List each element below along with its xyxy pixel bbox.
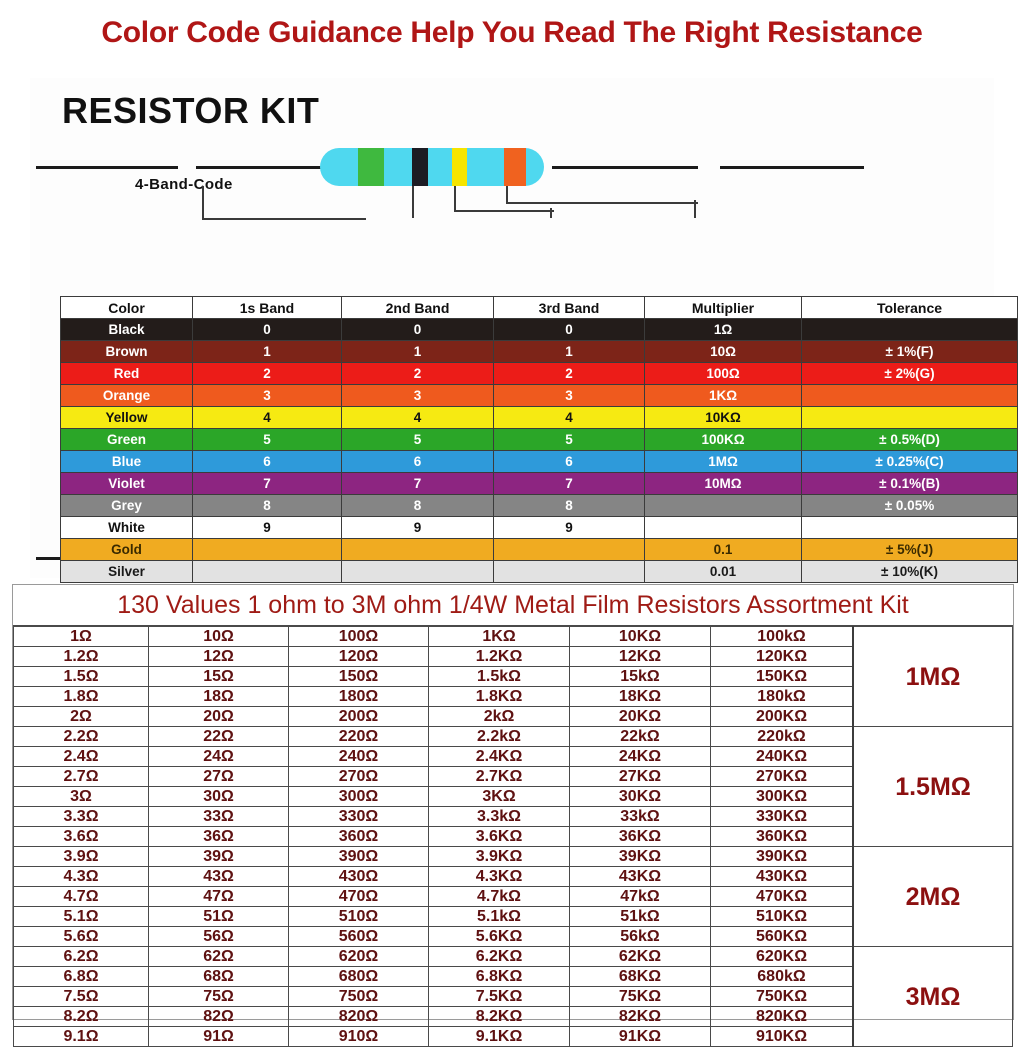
cc-band1-value: 6 xyxy=(193,451,342,473)
resistor-value-cell: 2.7Ω xyxy=(14,767,149,787)
cc-band2-value: 0 xyxy=(342,319,494,341)
resistor-value-cell: 18Ω xyxy=(149,687,289,707)
cc-multiplier-value: 10KΩ xyxy=(645,407,802,429)
cc-band3-value: 2 xyxy=(494,363,645,385)
resistor-value-cell: 360Ω xyxy=(289,827,429,847)
table-row: 6.2Ω62Ω620Ω6.2KΩ62KΩ620KΩ3MΩ xyxy=(14,947,1013,967)
cc-band2-value: 6 xyxy=(342,451,494,473)
resistor-value-cell: 9.1KΩ xyxy=(429,1027,570,1047)
resistor-value-cell: 24Ω xyxy=(149,747,289,767)
cc-tolerance-value: ± 2%(G) xyxy=(802,363,1018,385)
resistor-value-cell: 2.4Ω xyxy=(14,747,149,767)
cc-multiplier-value: 10MΩ xyxy=(645,473,802,495)
resistor-value-cell: 91KΩ xyxy=(570,1027,711,1047)
resistor-value-cell: 270KΩ xyxy=(711,767,854,787)
lead-line-left-inner xyxy=(196,166,336,169)
cc-band3-value: 3 xyxy=(494,385,645,407)
cc-multiplier-value: 100KΩ xyxy=(645,429,802,451)
resistor-value-cell: 4.7kΩ xyxy=(429,887,570,907)
resistor-value-cell: 6.8Ω xyxy=(14,967,149,987)
resistor-value-cell: 7.5Ω xyxy=(14,987,149,1007)
cc-band1-value: 0 xyxy=(193,319,342,341)
resistor-value-cell: 150Ω xyxy=(289,667,429,687)
color-code-row: Orange3331KΩ xyxy=(61,385,1018,407)
resistor-value-cell: 300Ω xyxy=(289,787,429,807)
cc-band2-value: 8 xyxy=(342,495,494,517)
resistor-value-cell: 2kΩ xyxy=(429,707,570,727)
values-card: 130 Values 1 ohm to 3M ohm 1/4W Metal Fi… xyxy=(12,584,1014,1020)
resistor-value-cell: 39KΩ xyxy=(570,847,711,867)
resistor-value-cell: 75KΩ xyxy=(570,987,711,1007)
resistor-value-cell: 680kΩ xyxy=(711,967,854,987)
cc-color-name: Black xyxy=(61,319,193,341)
resistor-value-cell: 12Ω xyxy=(149,647,289,667)
cc-band3-value: 6 xyxy=(494,451,645,473)
resistor-value-cell: 270Ω xyxy=(289,767,429,787)
resistor-value-cell: 5.1kΩ xyxy=(429,907,570,927)
cc-tolerance-value: ± 0.05% xyxy=(802,495,1018,517)
resistor-value-cell: 91Ω xyxy=(149,1027,289,1047)
resistor-value-cell: 47kΩ xyxy=(570,887,711,907)
color-code-card: RESISTOR KIT 4-Band-Code 5-Band-Code xyxy=(30,78,994,578)
resistor-value-cell: 200Ω xyxy=(289,707,429,727)
resistor-value-cell: 560Ω xyxy=(289,927,429,947)
resistor-value-cell: 390KΩ xyxy=(711,847,854,867)
mega-ohm-group-cell: 2MΩ xyxy=(853,847,1013,947)
resistor-value-cell: 51Ω xyxy=(149,907,289,927)
col-header-multiplier: Multiplier xyxy=(645,297,802,319)
resistor-value-cell: 220Ω xyxy=(289,727,429,747)
resistor-value-cell: 2Ω xyxy=(14,707,149,727)
resistor-value-cell: 2.4KΩ xyxy=(429,747,570,767)
resistor-value-cell: 1.8Ω xyxy=(14,687,149,707)
table-row: 2.2Ω22Ω220Ω2.2kΩ22kΩ220kΩ1.5MΩ xyxy=(14,727,1013,747)
cc-tolerance-value: ± 0.25%(C) xyxy=(802,451,1018,473)
connector-band1 xyxy=(202,186,366,220)
resistor-value-cell: 24KΩ xyxy=(570,747,711,767)
resistor-value-cell: 20Ω xyxy=(149,707,289,727)
cc-band1-value: 8 xyxy=(193,495,342,517)
resistor-value-cell: 4.7Ω xyxy=(14,887,149,907)
resistor-value-cell: 27Ω xyxy=(149,767,289,787)
cc-color-name: Brown xyxy=(61,341,193,363)
cc-multiplier-value: 1Ω xyxy=(645,319,802,341)
resistor-value-cell: 10Ω xyxy=(149,627,289,647)
resistor-value-cell: 3.3kΩ xyxy=(429,807,570,827)
cc-band3-value: 0 xyxy=(494,319,645,341)
resistor-value-cell: 470Ω xyxy=(289,887,429,907)
resistor-band-3 xyxy=(452,148,467,186)
resistor-value-cell: 330Ω xyxy=(289,807,429,827)
resistor-value-cell: 430Ω xyxy=(289,867,429,887)
resistor-kit-infographic: Color Code Guidance Help You Read The Ri… xyxy=(0,0,1024,1024)
col-header-color: Color xyxy=(61,297,193,319)
resistor-value-cell: 750Ω xyxy=(289,987,429,1007)
cc-band3-value: 8 xyxy=(494,495,645,517)
cc-multiplier-value xyxy=(645,495,802,517)
resistor-value-cell: 510KΩ xyxy=(711,907,854,927)
cc-band1-value xyxy=(193,561,342,583)
resistor-value-cell: 15kΩ xyxy=(570,667,711,687)
cc-band1-value: 7 xyxy=(193,473,342,495)
lead-line-right-outer xyxy=(720,166,864,169)
resistor-value-cell: 7.5KΩ xyxy=(429,987,570,1007)
resistor-value-cell: 330KΩ xyxy=(711,807,854,827)
cc-band2-value xyxy=(342,561,494,583)
mega-ohm-group-cell: 3MΩ xyxy=(853,947,1013,1047)
resistor-value-cell: 100kΩ xyxy=(711,627,854,647)
color-code-row: Blue6661MΩ± 0.25%(C) xyxy=(61,451,1018,473)
cc-color-name: Grey xyxy=(61,495,193,517)
cc-multiplier-value: 0.01 xyxy=(645,561,802,583)
cc-band2-value: 2 xyxy=(342,363,494,385)
cc-tolerance-value xyxy=(802,517,1018,539)
resistor-value-cell: 3.9Ω xyxy=(14,847,149,867)
resistor-value-cell: 300KΩ xyxy=(711,787,854,807)
cc-band2-value: 9 xyxy=(342,517,494,539)
col-header-1s-band: 1s Band xyxy=(193,297,342,319)
resistor-value-cell: 3Ω xyxy=(14,787,149,807)
cc-color-name: Blue xyxy=(61,451,193,473)
color-code-row: Violet77710MΩ± 0.1%(B) xyxy=(61,473,1018,495)
cc-band1-value: 4 xyxy=(193,407,342,429)
resistor-value-cell: 33Ω xyxy=(149,807,289,827)
resistor-value-cell: 62KΩ xyxy=(570,947,711,967)
cc-multiplier-value: 10Ω xyxy=(645,341,802,363)
resistor-value-cell: 20KΩ xyxy=(570,707,711,727)
resistor-value-cell: 3KΩ xyxy=(429,787,570,807)
resistor-value-cell: 22kΩ xyxy=(570,727,711,747)
resistor-value-cell: 100Ω xyxy=(289,627,429,647)
cc-band1-value: 5 xyxy=(193,429,342,451)
resistor-band-multiplier xyxy=(504,148,526,186)
col-header-2nd-band: 2nd Band xyxy=(342,297,494,319)
cc-band1-value: 2 xyxy=(193,363,342,385)
resistor-value-cell: 27KΩ xyxy=(570,767,711,787)
cc-band2-value: 1 xyxy=(342,341,494,363)
table-row: 3.9Ω39Ω390Ω3.9KΩ39KΩ390KΩ2MΩ xyxy=(14,847,1013,867)
resistor-value-cell: 3.3Ω xyxy=(14,807,149,827)
cc-tolerance-value xyxy=(802,319,1018,341)
resistor-value-cell: 6.2Ω xyxy=(14,947,149,967)
cc-tolerance-value xyxy=(802,407,1018,429)
resistor-value-cell: 18KΩ xyxy=(570,687,711,707)
cc-tolerance-value xyxy=(802,385,1018,407)
four-band-resistor xyxy=(320,148,544,186)
resistor-value-cell: 51kΩ xyxy=(570,907,711,927)
resistor-value-cell: 510Ω xyxy=(289,907,429,927)
cc-multiplier-value: 1MΩ xyxy=(645,451,802,473)
color-code-header-row: Color 1s Band 2nd Band 3rd Band Multipli… xyxy=(61,297,1018,319)
resistor-value-cell: 39Ω xyxy=(149,847,289,867)
cc-tolerance-value: ± 5%(J) xyxy=(802,539,1018,561)
cc-tolerance-value: ± 0.1%(B) xyxy=(802,473,1018,495)
resistor-value-cell: 1.2Ω xyxy=(14,647,149,667)
color-code-row: Grey888± 0.05% xyxy=(61,495,1018,517)
cc-color-name: Gold xyxy=(61,539,193,561)
cc-color-name: Yellow xyxy=(61,407,193,429)
cc-band1-value xyxy=(193,539,342,561)
resistor-value-cell: 1.5kΩ xyxy=(429,667,570,687)
cc-band2-value: 4 xyxy=(342,407,494,429)
resistor-value-cell: 2.7KΩ xyxy=(429,767,570,787)
cc-multiplier-value: 1KΩ xyxy=(645,385,802,407)
resistor-value-cell: 1KΩ xyxy=(429,627,570,647)
resistor-value-cell: 3.6KΩ xyxy=(429,827,570,847)
resistor-value-cell: 560KΩ xyxy=(711,927,854,947)
mega-ohm-group-cell: 1.5MΩ xyxy=(853,727,1013,847)
resistor-value-cell: 56Ω xyxy=(149,927,289,947)
resistor-value-cell: 12KΩ xyxy=(570,647,711,667)
cc-color-name: White xyxy=(61,517,193,539)
resistor-value-cell: 1Ω xyxy=(14,627,149,647)
cc-color-name: Green xyxy=(61,429,193,451)
resistor-value-cell: 910KΩ xyxy=(711,1027,854,1047)
resistor-band-2 xyxy=(412,148,428,186)
cc-band3-value xyxy=(494,561,645,583)
cc-band2-value: 3 xyxy=(342,385,494,407)
resistor-value-cell: 470KΩ xyxy=(711,887,854,907)
resistor-values-table: 1Ω10Ω100Ω1KΩ10KΩ100kΩ1MΩ1.2Ω12Ω120Ω1.2KΩ… xyxy=(13,626,1013,1047)
cc-color-name: Orange xyxy=(61,385,193,407)
cc-band2-value xyxy=(342,539,494,561)
resistor-value-cell: 5.6KΩ xyxy=(429,927,570,947)
color-code-row: Red222100Ω± 2%(G) xyxy=(61,363,1018,385)
resistor-value-cell: 430KΩ xyxy=(711,867,854,887)
cc-multiplier-value xyxy=(645,517,802,539)
resistor-value-cell: 75Ω xyxy=(149,987,289,1007)
color-code-row: White999 xyxy=(61,517,1018,539)
resistor-value-cell: 1.5Ω xyxy=(14,667,149,687)
resistor-value-cell: 4.3KΩ xyxy=(429,867,570,887)
resistor-value-cell: 220kΩ xyxy=(711,727,854,747)
cc-color-name: Violet xyxy=(61,473,193,495)
resistor-value-cell: 180kΩ xyxy=(711,687,854,707)
cc-band3-value: 7 xyxy=(494,473,645,495)
cc-tolerance-value: ± 10%(K) xyxy=(802,561,1018,583)
resistor-value-cell: 360KΩ xyxy=(711,827,854,847)
cc-multiplier-value: 0.1 xyxy=(645,539,802,561)
cc-band3-value: 5 xyxy=(494,429,645,451)
resistor-value-cell: 390Ω xyxy=(289,847,429,867)
cc-tolerance-value: ± 1%(F) xyxy=(802,341,1018,363)
cc-band3-value: 9 xyxy=(494,517,645,539)
resistor-value-cell: 910Ω xyxy=(289,1027,429,1047)
resistor-value-cell: 6.2KΩ xyxy=(429,947,570,967)
col-header-tolerance: Tolerance xyxy=(802,297,1018,319)
resistor-value-cell: 36Ω xyxy=(149,827,289,847)
resistor-value-cell: 30KΩ xyxy=(570,787,711,807)
values-title: 130 Values 1 ohm to 3M ohm 1/4W Metal Fi… xyxy=(13,585,1013,626)
resistor-value-cell: 200KΩ xyxy=(711,707,854,727)
resistor-value-cell: 22Ω xyxy=(149,727,289,747)
resistor-value-cell: 120Ω xyxy=(289,647,429,667)
resistor-value-cell: 10KΩ xyxy=(570,627,711,647)
cc-color-name: Silver xyxy=(61,561,193,583)
color-code-table: Color 1s Band 2nd Band 3rd Band Multipli… xyxy=(60,296,1018,583)
resistor-value-cell: 3.6Ω xyxy=(14,827,149,847)
color-code-row: Green555100KΩ± 0.5%(D) xyxy=(61,429,1018,451)
kit-title: RESISTOR KIT xyxy=(62,90,319,132)
color-code-row: Yellow44410KΩ xyxy=(61,407,1018,429)
resistor-value-cell: 2.2kΩ xyxy=(429,727,570,747)
page-banner-title: Color Code Guidance Help You Read The Ri… xyxy=(0,16,1024,50)
cc-band2-value: 5 xyxy=(342,429,494,451)
resistor-value-cell: 750KΩ xyxy=(711,987,854,1007)
resistor-value-cell: 240KΩ xyxy=(711,747,854,767)
resistor-value-cell: 43Ω xyxy=(149,867,289,887)
lead-line-right-inner xyxy=(552,166,698,169)
resistor-value-cell: 36KΩ xyxy=(570,827,711,847)
resistor-value-cell: 620Ω xyxy=(289,947,429,967)
resistor-value-cell: 68Ω xyxy=(149,967,289,987)
resistor-value-cell: 43KΩ xyxy=(570,867,711,887)
resistor-value-cell: 3.9KΩ xyxy=(429,847,570,867)
cc-band3-value: 4 xyxy=(494,407,645,429)
resistor-value-cell: 1.2KΩ xyxy=(429,647,570,667)
resistor-value-cell: 150KΩ xyxy=(711,667,854,687)
resistor-value-cell: 120KΩ xyxy=(711,647,854,667)
resistor-value-cell: 30Ω xyxy=(149,787,289,807)
cc-band1-value: 9 xyxy=(193,517,342,539)
resistor-value-cell: 5.1Ω xyxy=(14,907,149,927)
cc-color-name: Red xyxy=(61,363,193,385)
cc-multiplier-value: 100Ω xyxy=(645,363,802,385)
resistor-value-cell: 9.1Ω xyxy=(14,1027,149,1047)
resistor-value-cell: 2.2Ω xyxy=(14,727,149,747)
connector-band3-drop xyxy=(550,208,554,218)
resistor-value-cell: 62Ω xyxy=(149,947,289,967)
connector-multiplier-drop xyxy=(694,200,698,218)
connector-band2 xyxy=(412,186,416,218)
color-code-row: Silver0.01± 10%(K) xyxy=(61,561,1018,583)
resistor-value-cell: 47Ω xyxy=(149,887,289,907)
resistor-value-cell: 33kΩ xyxy=(570,807,711,827)
cc-tolerance-value: ± 0.5%(D) xyxy=(802,429,1018,451)
cc-band3-value: 1 xyxy=(494,341,645,363)
connector-multiplier xyxy=(506,186,698,204)
cc-band1-value: 1 xyxy=(193,341,342,363)
cc-band2-value: 7 xyxy=(342,473,494,495)
cc-band3-value xyxy=(494,539,645,561)
color-code-row: Black0001Ω xyxy=(61,319,1018,341)
resistor-value-cell: 240Ω xyxy=(289,747,429,767)
resistor-value-cell: 180Ω xyxy=(289,687,429,707)
resistor-value-cell: 5.6Ω xyxy=(14,927,149,947)
mega-ohm-group-cell: 1MΩ xyxy=(853,627,1013,727)
resistor-value-cell: 68KΩ xyxy=(570,967,711,987)
table-row: 1Ω10Ω100Ω1KΩ10KΩ100kΩ1MΩ xyxy=(14,627,1013,647)
resistor-value-cell: 6.8KΩ xyxy=(429,967,570,987)
resistor-value-cell: 1.8KΩ xyxy=(429,687,570,707)
cc-band1-value: 3 xyxy=(193,385,342,407)
color-code-row: Gold0.1± 5%(J) xyxy=(61,539,1018,561)
resistor-value-cell: 15Ω xyxy=(149,667,289,687)
resistor-value-cell: 56kΩ xyxy=(570,927,711,947)
col-header-3rd-band: 3rd Band xyxy=(494,297,645,319)
resistor-value-cell: 4.3Ω xyxy=(14,867,149,887)
lead-line-left-outer xyxy=(36,166,178,169)
resistor-value-cell: 620KΩ xyxy=(711,947,854,967)
resistor-band-1 xyxy=(358,148,384,186)
color-code-row: Brown11110Ω± 1%(F) xyxy=(61,341,1018,363)
resistor-value-cell: 680Ω xyxy=(289,967,429,987)
